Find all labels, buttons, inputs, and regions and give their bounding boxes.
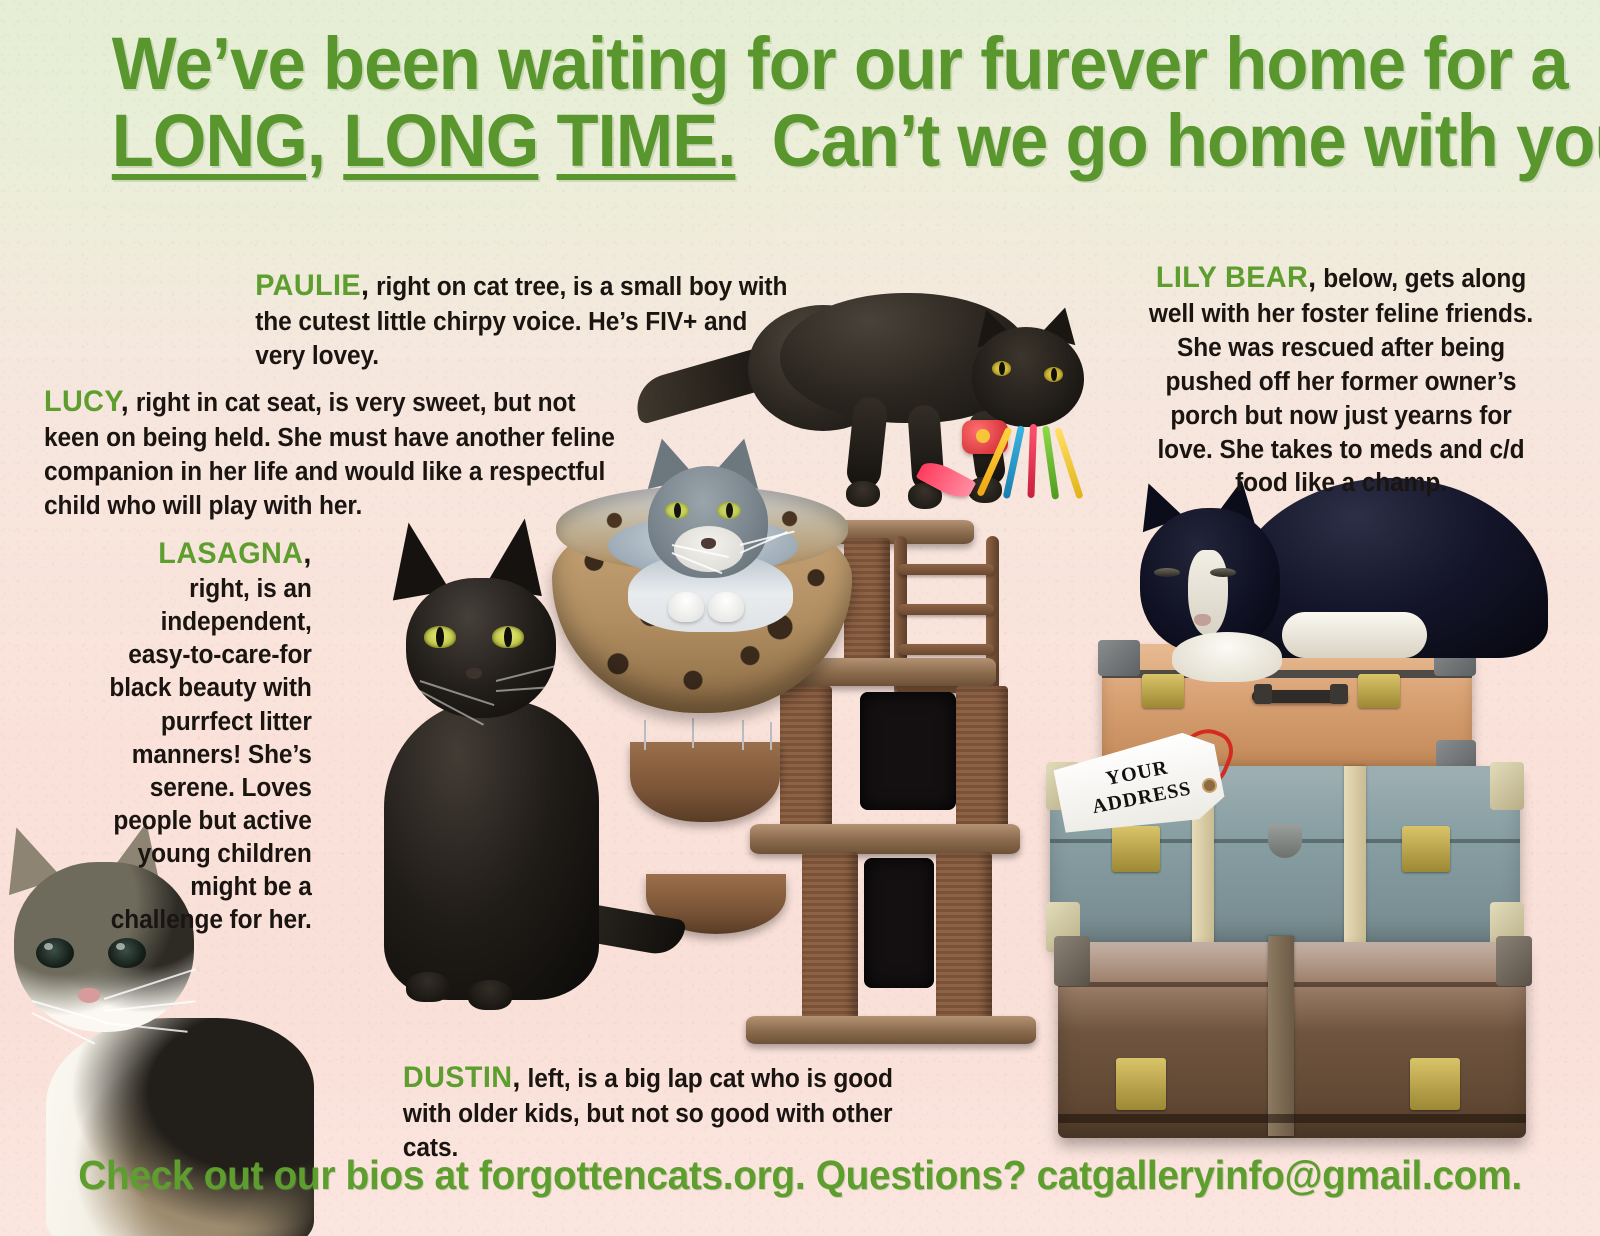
blurb-lucy: LUCY, right in cat seat, is very sweet, … xyxy=(44,382,620,524)
lily-bear-front-paws xyxy=(1282,612,1427,658)
blurb-paulie: PAULIE, right on cat tree, is a small bo… xyxy=(255,266,793,374)
feather-wand-toy-photo xyxy=(952,410,1112,530)
address-tag-eyelet xyxy=(1202,778,1217,793)
footer-contact-line: Check out our bios at forgottencats.org.… xyxy=(40,1152,1560,1199)
lily-bear-nose xyxy=(1194,614,1211,626)
cat-name-lucy-punct: , xyxy=(121,385,129,418)
lasagna-body xyxy=(384,700,599,1000)
lily-bear-chest xyxy=(1172,632,1282,682)
cat-name-lily-bear: LILY BEAR xyxy=(1156,261,1308,294)
cat-tree-hammock xyxy=(630,742,780,822)
cat-description-lasagna: right, is an independent, easy-to-care-f… xyxy=(109,575,311,934)
dustin-eye-right xyxy=(108,938,146,968)
cat-name-lasagna: LASAGNA xyxy=(158,537,303,570)
brown-steamer-trunk xyxy=(1058,942,1526,1138)
cat-name-paulie: PAULIE xyxy=(255,269,361,302)
headline-emphasis-time: TIME. xyxy=(557,99,736,182)
cat-description-lucy: right in cat seat, is very sweet, but no… xyxy=(44,389,615,520)
cat-name-dustin: DUSTIN xyxy=(403,1061,513,1094)
cat-name-lucy: LUCY xyxy=(44,385,121,418)
lily-bear-cat-photo xyxy=(1132,472,1552,687)
lucy-nose xyxy=(701,538,716,549)
cat-name-paulie-punct: , xyxy=(361,269,369,302)
paulie-eye-right xyxy=(1044,367,1063,382)
lasagna-nose xyxy=(466,668,482,679)
blurb-lasagna: LASAGNA, right, is an independent, easy-… xyxy=(108,534,312,938)
headline-line-2: LONG, LONG TIME. Can’t we go home with y… xyxy=(112,103,1488,180)
dustin-nose xyxy=(78,988,100,1003)
lily-bear-eye-right xyxy=(1210,568,1236,577)
lily-bear-eye-left xyxy=(1154,568,1180,577)
blurb-dustin: DUSTIN, left, is a big lap cat who is go… xyxy=(403,1058,926,1166)
lucy-paw-left xyxy=(668,592,704,622)
page-title: We’ve been waiting for our furever home … xyxy=(112,26,1488,180)
cat-name-dustin-punct: , xyxy=(512,1061,520,1094)
cat-name-lasagna-punct: , xyxy=(303,537,311,570)
headline-line-1: We’ve been waiting for our furever home … xyxy=(112,26,1488,103)
headline-emphasis-long1: LONG, xyxy=(112,99,325,182)
cat-description-lily-bear: below, gets along well with her foster f… xyxy=(1149,265,1533,497)
lasagna-eye-right xyxy=(492,626,524,648)
headline-emphasis-long2: LONG xyxy=(343,99,538,182)
cat-name-lily-bear-punct: , xyxy=(1308,261,1316,294)
adoption-flyer-poster: We’ve been waiting for our furever home … xyxy=(0,0,1600,1236)
dustin-eye-left xyxy=(36,938,74,968)
headline-question: Can’t we go home with you? xyxy=(772,99,1600,182)
lucy-paw-right xyxy=(708,592,744,622)
paulie-eye-left xyxy=(992,361,1011,376)
dustin-body xyxy=(46,1018,314,1236)
lasagna-eye-left xyxy=(424,626,456,648)
suitcase-stack-photo xyxy=(1040,616,1560,1136)
lasagna-head xyxy=(406,578,556,718)
blurb-lily-bear: LILY BEAR, below, gets along well with h… xyxy=(1144,258,1538,501)
